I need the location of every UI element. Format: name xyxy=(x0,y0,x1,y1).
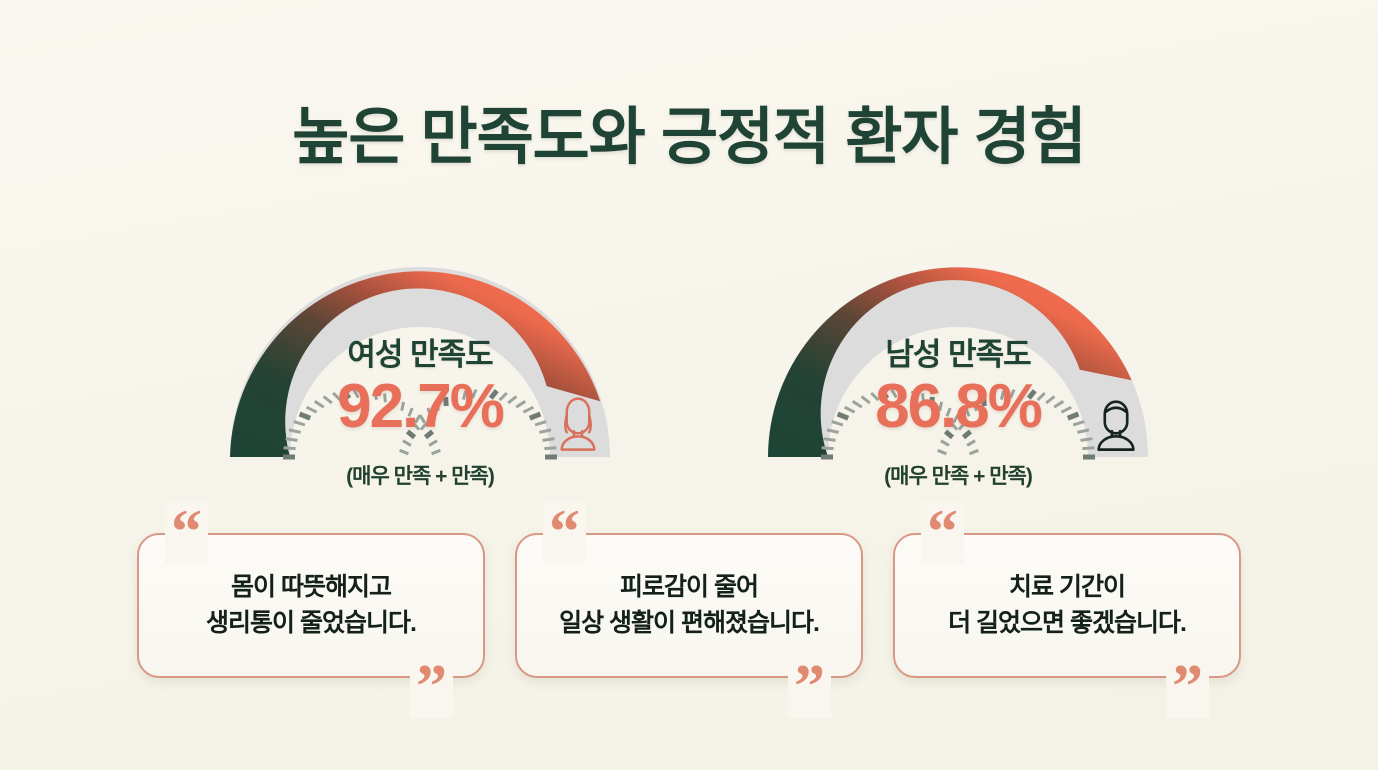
gauge-female-svg xyxy=(210,222,630,472)
quote-open-icon: “ xyxy=(543,501,586,563)
page-title: 높은 만족도와 긍정적 환자 경험 xyxy=(0,86,1378,176)
gauge-female: 여성 만족도 92.7% (매우 만족 + 만족) xyxy=(210,222,630,497)
quote-card: “ 몸이 따뜻해지고 생리통이 줄었습니다. ” xyxy=(137,533,485,678)
quote-card: “ 치료 기간이 더 길었으면 좋겠습니다. ” xyxy=(893,533,1241,678)
gauge-group: 여성 만족도 92.7% (매우 만족 + 만족) xyxy=(0,222,1378,497)
gauge-ticks-female xyxy=(283,390,440,458)
gauge-male: 남성 만족도 86.8% (매우 만족 + 만족) xyxy=(748,222,1168,497)
quote-close-icon: ” xyxy=(1166,656,1209,718)
quote-card: “ 피로감이 줄어 일상 생활이 편해졌습니다. ” xyxy=(515,533,863,678)
gauge-ticks-female-right xyxy=(400,390,557,458)
quote-close-icon: ” xyxy=(410,656,453,718)
gauge-male-sublabel: (매우 만족 + 만족) xyxy=(748,460,1168,490)
gauge-ticks-male xyxy=(821,390,978,458)
infographic-slide: 높은 만족도와 긍정적 환자 경험 xyxy=(0,0,1378,770)
quote-text: 피로감이 줄어 일상 생활이 편해졌습니다. xyxy=(543,570,835,641)
quote-open-icon: “ xyxy=(921,501,964,563)
gauge-male-svg xyxy=(748,222,1168,472)
quote-card-group: “ 몸이 따뜻해지고 생리통이 줄었습니다. ” “ 피로감이 줄어 일상 생활… xyxy=(0,533,1378,678)
quote-text: 치료 기간이 더 길었으면 좋겠습니다. xyxy=(932,570,1202,641)
quote-open-icon: “ xyxy=(165,501,208,563)
quote-close-icon: ” xyxy=(788,656,831,718)
gauge-female-sublabel: (매우 만족 + 만족) xyxy=(210,460,630,490)
quote-text: 몸이 따뜻해지고 생리통이 줄었습니다. xyxy=(190,570,432,641)
gauge-ticks-male-right xyxy=(938,390,1095,458)
